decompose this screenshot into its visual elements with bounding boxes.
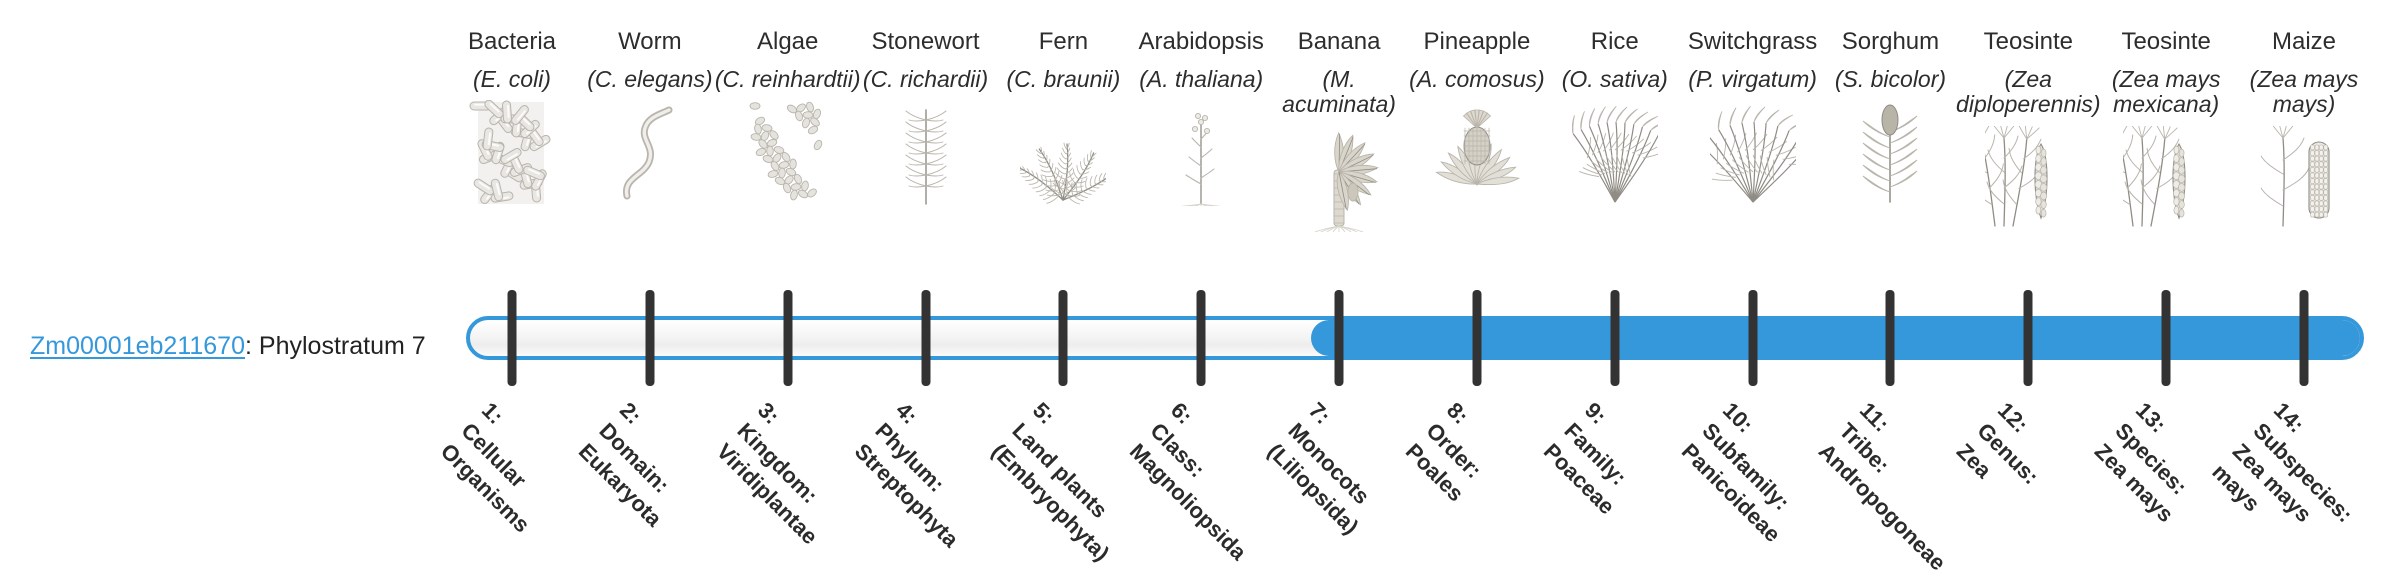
gene-id-link[interactable]: Zm00001eb211670 (30, 332, 245, 360)
species-illustration (1020, 100, 1106, 206)
species-illustration (2123, 126, 2209, 232)
taxonomy-label[interactable]: 9: Family: Poaceae (1537, 396, 1662, 521)
sorghum-icon (1847, 100, 1933, 206)
species-scientific-name: (P. virgatum) (1688, 67, 1817, 93)
taxonomy-label[interactable]: 3: Kingdom: Viridiplantae (710, 396, 865, 551)
species-common-name: Sorghum (1842, 28, 1939, 56)
taxonomy-label[interactable]: 5: Land plants (Embryophyta) (986, 396, 1157, 567)
species-illustration (745, 100, 831, 206)
teosinte-icon (2123, 126, 2209, 232)
species-scientific-name: (A. thaliana) (1139, 67, 1263, 93)
species-scientific-name: (A. comosus) (1409, 67, 1544, 93)
species-scientific-name: (C. braunii) (1006, 67, 1120, 93)
species-column: Sorghum (S. bicolor) (1815, 28, 1965, 206)
taxonomy-label[interactable]: 4: Phylum: Streptophyta (848, 396, 1006, 554)
species-illustration (1158, 100, 1244, 206)
species-illustration (2261, 126, 2347, 232)
species-common-name: Switchgrass (1688, 28, 1817, 56)
species-column: Algae (C. reinhardtii) (713, 28, 863, 206)
species-column: Maize (Zea mays mays) (2229, 28, 2379, 232)
species-common-name: Banana (1298, 28, 1381, 56)
species-common-name: Arabidopsis (1139, 28, 1264, 56)
taxonomy-label[interactable]: 13: Species: Zea mays (2089, 396, 2222, 529)
species-common-name: Fern (1039, 28, 1088, 56)
switchgrass-icon (1710, 100, 1796, 206)
gene-phylostratum-label: Zm00001eb211670: Phylostratum 7 (30, 332, 470, 361)
species-strip: Bacteria (E. coli) (466, 28, 2364, 303)
species-scientific-name: (O. sativa) (1562, 67, 1668, 93)
bacteria-icon (469, 100, 555, 206)
rice-icon (1572, 100, 1658, 206)
species-common-name: Teosinte (1984, 28, 2073, 56)
arabidopsis-icon (1158, 100, 1244, 206)
species-scientific-name: (E. coli) (473, 67, 551, 93)
species-column: Banana (M. acuminata) (1264, 28, 1414, 232)
species-common-name: Teosinte (2121, 28, 2210, 56)
species-column: Switchgrass (P. virgatum) (1678, 28, 1828, 206)
species-common-name: Stonewort (872, 28, 980, 56)
timeline-fill (1311, 320, 2360, 356)
species-illustration (1847, 100, 1933, 206)
species-scientific-name: (Zea mays mexicana) (2091, 67, 2241, 119)
species-illustration (1710, 100, 1796, 206)
species-column: Rice (O. sativa) (1540, 28, 1690, 206)
species-scientific-name: (M. acuminata) (1264, 67, 1414, 119)
species-illustration (607, 100, 693, 206)
phylostratum-value: Phylostratum 7 (259, 332, 426, 360)
species-column: Worm (C. elegans) (575, 28, 725, 206)
species-column: Arabidopsis (A. thaliana) (1126, 28, 1276, 206)
species-scientific-name: (C. richardii) (863, 67, 988, 93)
species-scientific-name: (Zea mays mays) (2229, 67, 2379, 119)
phylostratum-timeline: Zm00001eb211670: Phylostratum 7 Bacteria… (0, 0, 2400, 580)
species-common-name: Maize (2272, 28, 2336, 56)
species-scientific-name: (S. bicolor) (1835, 67, 1946, 93)
taxonomy-label-layer: 1: Cellular Organisms2: Domain: Eukaryot… (466, 396, 2364, 580)
species-common-name: Algae (757, 28, 818, 56)
species-column: Bacteria (E. coli) (437, 28, 587, 206)
taxonomy-label[interactable]: 7: Monocots (Liliopsida) (1261, 396, 1406, 541)
fern-icon (1020, 100, 1106, 206)
species-illustration (469, 100, 555, 206)
species-common-name: Worm (618, 28, 682, 56)
species-common-name: Rice (1591, 28, 1639, 56)
species-column: Stonewort (C. richardii) (851, 28, 1001, 206)
worm-icon (607, 100, 693, 206)
species-column: Teosinte (Zea mays mexicana) (2091, 28, 2241, 232)
gene-label-separator: : (245, 332, 259, 360)
species-column: Fern (C. braunii) (988, 28, 1138, 206)
taxonomy-label[interactable]: 11: Tribe: Andropogoneae (1813, 396, 1994, 577)
species-scientific-name: (C. reinhardtii) (715, 67, 861, 93)
species-illustration (1434, 100, 1520, 206)
timeline-track (466, 316, 2364, 360)
species-illustration (883, 100, 969, 206)
stonewort-icon (883, 100, 969, 206)
algae-icon (745, 100, 831, 206)
teosinte-icon (1985, 126, 2071, 232)
species-scientific-name: (Zea diploperennis) (1953, 67, 2103, 119)
species-illustration (1572, 100, 1658, 206)
species-column: Teosinte (Zea diploperennis) (1953, 28, 2103, 232)
pineapple-icon (1434, 100, 1520, 206)
species-column: Pineapple (A. comosus) (1402, 28, 1552, 206)
species-scientific-name: (C. elegans) (587, 67, 712, 93)
species-illustration (1985, 126, 2071, 232)
taxonomy-label[interactable]: 14: Subspecies: Zea mays mays (2206, 396, 2380, 570)
species-illustration (1296, 126, 1382, 232)
taxonomy-label[interactable]: 2: Domain: Eukaryota (572, 396, 709, 533)
maize-icon (2261, 126, 2347, 232)
species-common-name: Bacteria (468, 28, 556, 56)
species-common-name: Pineapple (1424, 28, 1531, 56)
taxonomy-label[interactable]: 10: Subfamily: Panicoideae (1675, 396, 1827, 548)
taxonomy-label[interactable]: 6: Class: Magnoliopsida (1124, 396, 1294, 566)
taxonomy-label[interactable]: 8: Order: Poales (1399, 396, 1511, 508)
timeline-bar[interactable] (466, 316, 2364, 360)
banana-icon (1296, 126, 1382, 232)
taxonomy-label[interactable]: 1: Cellular Organisms (434, 396, 577, 539)
